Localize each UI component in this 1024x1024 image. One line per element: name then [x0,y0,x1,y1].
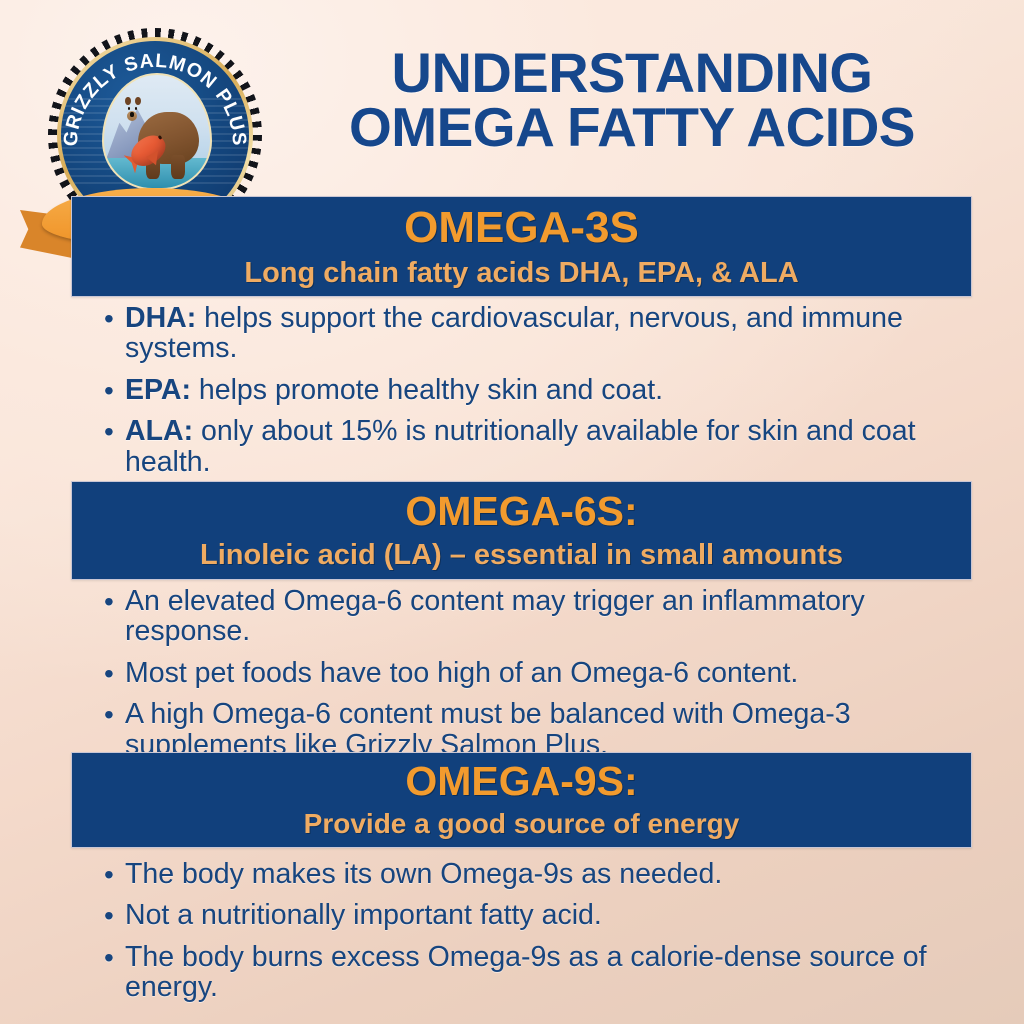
bullet-text: An elevated Omega-6 content may trigger … [125,585,865,647]
bear-nose [130,112,135,117]
salmon-body [126,130,171,171]
section-subtitle-omega3: Long chain fatty acids DHA, EPA, & ALA [72,253,971,290]
bullet-text: Most pet foods have too high of an Omega… [125,657,798,689]
bullet-text: helps support the cardiovascular, nervou… [125,302,903,364]
bullet-glyph: • [104,860,114,890]
section-subtitle-omega6: Linoleic acid (LA) – essential in small … [72,535,971,572]
bullet-list-omega6: •An elevated Omega-6 content may trigger… [101,586,981,771]
bullet-text: helps promote healthy skin and coat. [191,374,663,406]
section-header-omega6: OMEGA-6S: Linoleic acid (LA) – essential… [71,481,972,580]
bullet-list-omega3: •DHA: helps support the cardiovascular, … [101,303,981,488]
bullet-glyph: • [104,417,114,447]
bullet-text: The body makes its own Omega-9s as neede… [125,858,722,890]
bullet-text: The body burns excess Omega-9s as a calo… [125,941,927,1003]
bear-icon [122,88,200,178]
page-title-line-1: UNDERSTANDING [282,46,982,101]
page-title: UNDERSTANDING OMEGA FATTY ACIDS [282,46,982,155]
bullet-lead: EPA: [125,374,191,406]
page-title-line-2: OMEGA FATTY ACIDS [282,101,982,155]
bullet-glyph: • [104,943,114,973]
list-item: •The body burns excess Omega-9s as a cal… [101,942,981,1003]
list-item: •DHA: helps support the cardiovascular, … [101,303,981,364]
section-heading-omega3: OMEGA-3S [72,197,971,253]
seal-scene-window [102,73,211,190]
bullet-lead: ALA: [125,415,193,447]
infographic-poster: GRIZZLY SALMON PLUS [0,0,1024,1024]
list-item: •Most pet foods have too high of an Omeg… [101,658,981,688]
bullet-lead: DHA: [125,302,196,334]
bullet-glyph: • [104,659,114,689]
bear-eye [128,107,130,110]
list-item: •EPA: helps promote healthy skin and coa… [101,375,981,405]
list-item: •The body makes its own Omega-9s as need… [101,859,981,889]
section-heading-omega9: OMEGA-9S: [72,753,971,805]
bullet-glyph: • [104,700,114,730]
list-item: •An elevated Omega-6 content may trigger… [101,586,981,647]
bullet-text: only about 15% is nutritionally availabl… [125,415,916,477]
list-item: •Not a nutritionally important fatty aci… [101,900,981,930]
bullet-text: Not a nutritionally important fatty acid… [125,899,602,931]
list-item: •ALA: only about 15% is nutritionally av… [101,416,981,477]
section-heading-omega6: OMEGA-6S: [72,482,971,535]
bullet-list-omega9: •The body makes its own Omega-9s as need… [101,859,981,1014]
bullet-glyph: • [104,304,114,334]
section-header-omega9: OMEGA-9S: Provide a good source of energ… [71,752,972,848]
bear-ear [135,97,141,106]
bullet-glyph: • [104,376,114,406]
bear-eye [135,107,137,110]
bullet-glyph: • [104,587,114,617]
bear-ear [125,97,131,106]
bullet-glyph: • [104,901,114,931]
section-header-omega3: OMEGA-3S Long chain fatty acids DHA, EPA… [71,196,972,297]
section-subtitle-omega9: Provide a good source of energy [72,805,971,840]
